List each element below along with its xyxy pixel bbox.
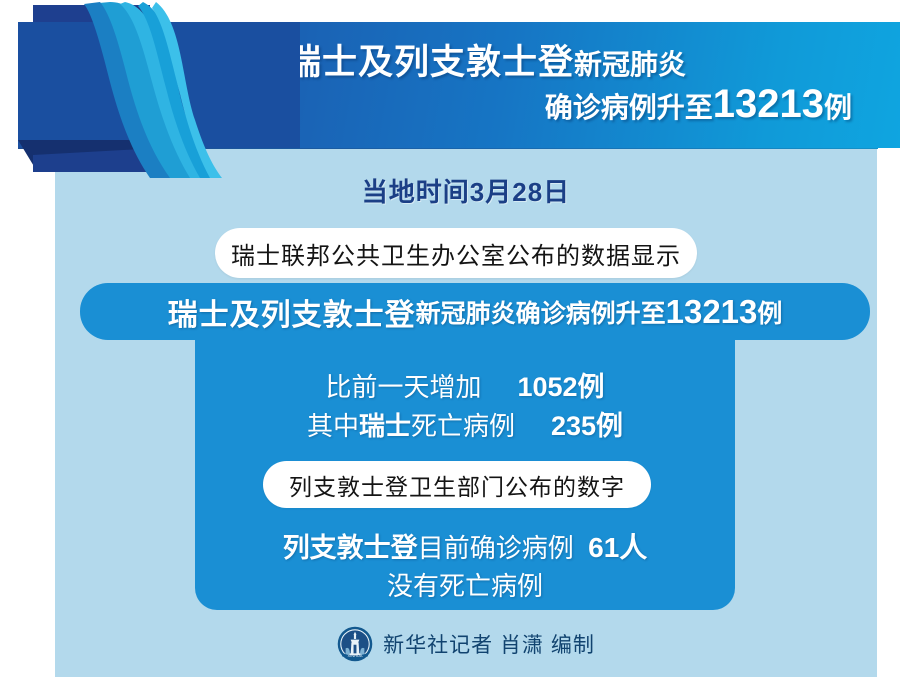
infographic-poster: 瑞士及列支敦士登新冠肺炎 确诊病例升至13213例 当地时间3月28日 瑞士联邦… [0, 0, 900, 677]
main-headline-secondary: 新冠肺炎确诊病例升至 [416, 294, 666, 330]
footer-credit-text: 新华社记者 肖潇 编制 [383, 629, 595, 659]
stat-row-2-label-prefix: 其中 [307, 411, 359, 441]
page-title-line-1-primary: 瑞士及列支敦士登 [286, 43, 574, 82]
stat-row-1-value: 1052例 [517, 365, 604, 404]
page-title-line-2-suffix: 例 [824, 92, 852, 123]
source-swiss-text: 瑞士联邦公共卫生办公室公布的数据显示 [231, 236, 681, 271]
page-title-line-2-text: 确诊病例升至 [545, 92, 713, 123]
source-liechtenstein-text: 列支敦士登卫生部门公布的数字 [289, 468, 625, 502]
main-headline-number: 13213 [666, 293, 758, 331]
footer-credit: XINHUA 新华社记者 肖潇 编制 [55, 620, 877, 668]
local-date-label: 当地时间3月28日 [55, 172, 877, 209]
stat-row-2-label: 其中瑞士死亡病例 [307, 406, 515, 443]
stat-row: 比前一天增加 1052例 [195, 365, 735, 404]
liechtenstein-cases-row: 列支敦士登目前确诊病例 61人 [195, 526, 735, 566]
page-title-line-1-secondary: 新冠肺炎 [574, 49, 686, 80]
page-title-line-2: 确诊病例升至13213例 [545, 82, 858, 127]
xinhua-logo-icon: XINHUA [337, 626, 373, 662]
ribbon-decoration-icon [0, 0, 300, 200]
page-title-line-1: 瑞士及列支敦士登新冠肺炎 [286, 43, 858, 82]
liechtenstein-name: 列支敦士登 [283, 533, 418, 563]
main-headline-banner: 瑞士及列支敦士登新冠肺炎确诊病例升至13213例 [80, 283, 870, 340]
liechtenstein-cases-value: 61人 [588, 532, 647, 563]
source-swiss-pill: 瑞士联邦公共卫生办公室公布的数据显示 [215, 228, 697, 278]
stat-row-1-label: 比前一天增加 [325, 367, 481, 404]
liechtenstein-deaths-row: 没有死亡病例 [195, 566, 735, 603]
stat-row: 其中瑞士死亡病例 235例 [195, 404, 735, 443]
stat-row-2-label-bold: 瑞士 [359, 411, 411, 441]
svg-text:XINHUA: XINHUA [348, 653, 363, 658]
stat-row-2-value: 235例 [551, 404, 623, 443]
stat-row-2-label-tail: 死亡病例 [411, 411, 515, 441]
source-liechtenstein-pill: 列支敦士登卫生部门公布的数字 [263, 461, 651, 508]
main-headline-primary: 瑞士及列支敦士登 [168, 290, 416, 334]
main-headline-suffix: 例 [757, 294, 782, 330]
page-title-line-2-number: 13213 [713, 82, 824, 126]
liechtenstein-cases-label: 目前确诊病例 [418, 533, 574, 563]
